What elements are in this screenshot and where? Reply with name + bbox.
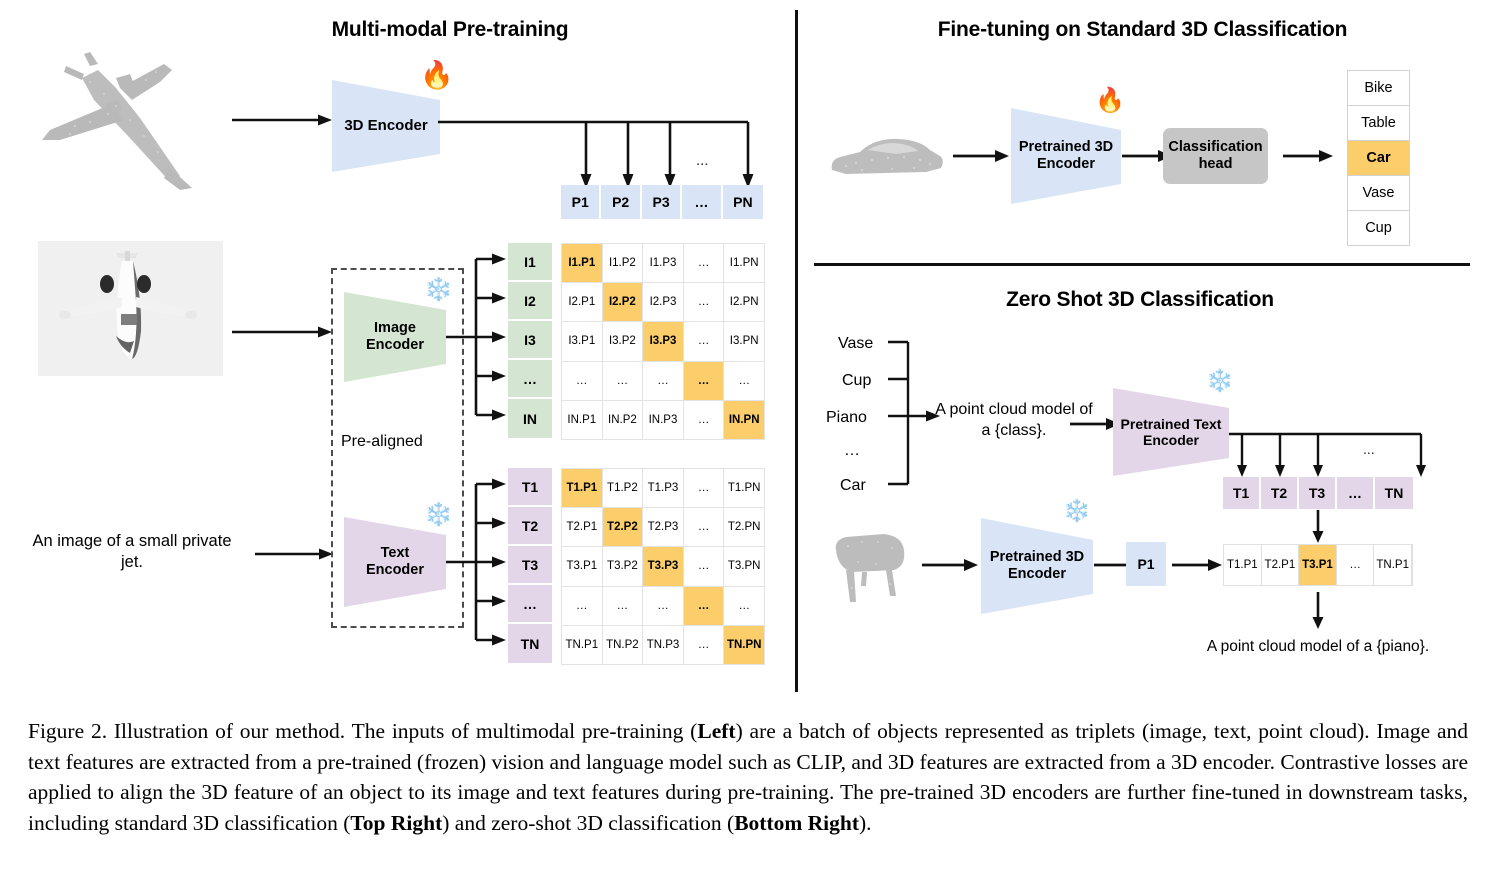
point-token: PN	[723, 185, 763, 219]
zeroshot-class-name: Vase	[838, 335, 873, 353]
image-token: …	[508, 360, 552, 399]
caption-emphasis: Top Right	[350, 811, 442, 835]
arrow-tokens-to-scores	[1310, 510, 1326, 544]
image-similarity-cell: I1.P1	[562, 244, 602, 282]
classification-class-list[interactable]: BikeTableCarVaseCup	[1347, 70, 1410, 246]
text-similarity-cell: …	[684, 469, 724, 507]
classification-head-box: Classification head	[1163, 128, 1268, 184]
fire-emoji-finetune: 🔥	[1095, 89, 1125, 113]
zeroshot-point-token-box: P1	[1126, 542, 1166, 586]
arrow-car-to-encoder	[953, 148, 1009, 164]
arrow-head-to-classes	[1283, 148, 1333, 164]
image-point-similarity-matrix: I1.P1I1.P2I1.P3…I1.PNI2.P1I2.P2I2.P3…I2.…	[561, 243, 765, 440]
image-token: I1	[508, 243, 552, 282]
image-similarity-cell: …	[603, 362, 643, 400]
arrow-p1-to-scores	[1172, 557, 1222, 573]
image-similarity-cell: I1.P3	[643, 244, 683, 282]
text-similarity-cell: TN.P1	[562, 626, 602, 664]
zeroshot-class-name: Piano	[826, 409, 867, 427]
text-similarity-cell: T3.P1	[562, 547, 602, 585]
class-list-item[interactable]: Cup	[1348, 211, 1409, 245]
snowflake-emoji-text-encoder: ❄️	[424, 503, 453, 526]
text-similarity-cell: T1.P1	[562, 469, 602, 507]
image-similarity-cell: …	[562, 362, 602, 400]
zeroshot-bus-ellipsis: ...	[1363, 441, 1375, 457]
zeroshot-score-cell: TN.P1	[1374, 545, 1412, 585]
zeroshot-encoder-label-line2: Encoder	[990, 566, 1084, 583]
zeroshot-class-name: …	[844, 442, 860, 460]
text-encoder-trapezoid: Text Encoder	[344, 517, 446, 607]
image-similarity-cell: …	[643, 362, 683, 400]
text-similarity-cell: …	[684, 626, 724, 664]
zeroshot-result-text: A point cloud model of a {piano}.	[1168, 637, 1468, 657]
image-similarity-cell: IN.P2	[603, 401, 643, 439]
point-cloud-airplane-icon	[20, 48, 235, 198]
text-similarity-cell: T1.PN	[724, 469, 764, 507]
image-similarity-cell: IN.P3	[643, 401, 683, 439]
text-similarity-cell: …	[643, 587, 683, 625]
fire-emoji-pretraining: 🔥	[420, 62, 454, 89]
figure-caption: Figure 2. Illustration of our method. Th…	[28, 716, 1468, 838]
text-token-fanout	[446, 475, 508, 655]
image-similarity-cell: I3.P2	[603, 322, 643, 360]
text-similarity-cell: TN.P3	[643, 626, 683, 664]
point-token-strip: P1 P2 P3 … PN	[561, 185, 763, 219]
snowflake-emoji-text-encoder-zs: ❄️	[1206, 370, 1233, 392]
encoder-3d-trapezoid: 3D Encoder	[332, 80, 440, 172]
text-encoder-zs-label-line2: Encoder	[1121, 432, 1222, 448]
zeroshot-class-name-list: Vase Cup Piano … Car	[826, 330, 894, 480]
zeroshot-text-token: T1	[1223, 477, 1261, 509]
point-token: …	[682, 185, 722, 219]
class-list-item[interactable]: Car	[1348, 141, 1409, 176]
bottom-right-panel-title: Zero Shot 3D Classification	[900, 288, 1380, 312]
image-similarity-cell: …	[684, 362, 724, 400]
image-similarity-cell: IN.PN	[724, 401, 764, 439]
point-cloud-car-icon	[826, 130, 946, 190]
image-similarity-cell: I1.PN	[724, 244, 764, 282]
text-encoder-label-line2: Encoder	[366, 562, 424, 579]
image-token-column: I1 I2 I3 … IN	[508, 243, 552, 438]
image-token: IN	[508, 399, 552, 438]
point-token: P3	[642, 185, 682, 219]
snowflake-emoji-image-encoder: ❄️	[424, 278, 453, 301]
zeroshot-score-row: T1.P1T2.P1T3.P1…TN.P1	[1223, 544, 1413, 586]
zeroshot-encoder-label-line1: Pretrained 3D	[990, 549, 1084, 566]
text-similarity-cell: T1.P2	[603, 469, 643, 507]
image-similarity-cell: …	[684, 401, 724, 439]
image-similarity-cell: I2.P1	[562, 283, 602, 321]
text-input-caption: An image of a small private jet.	[22, 531, 242, 574]
pretrained-text-encoder-trapezoid: Pretrained Text Encoder	[1113, 388, 1229, 476]
text-token: T2	[508, 507, 552, 546]
text-similarity-cell: T2.P1	[562, 508, 602, 546]
class-list-item[interactable]: Table	[1348, 106, 1409, 141]
caption-emphasis: Left	[697, 719, 735, 743]
finetune-encoder-label-line2: Encoder	[1019, 156, 1113, 173]
classification-head-label-line2: head	[1168, 156, 1262, 173]
pretrained-3d-encoder-zeroshot-trapezoid: Pretrained 3D Encoder	[981, 518, 1093, 614]
zeroshot-text-token: TN	[1375, 477, 1413, 509]
point-cloud-piano-icon	[828, 520, 918, 610]
caption-text: ).	[859, 811, 872, 835]
zeroshot-text-token: …	[1337, 477, 1375, 509]
text-similarity-cell: TN.PN	[724, 626, 764, 664]
caption-emphasis: Bottom Right	[734, 811, 859, 835]
arrow-piano-to-encoder	[922, 557, 978, 573]
image-similarity-cell: I3.P3	[643, 322, 683, 360]
pointcloud-bus-ellipsis: ...	[696, 152, 709, 169]
classification-head-label-line1: Classification	[1168, 139, 1262, 156]
zeroshot-point-token-label: P1	[1137, 556, 1154, 572]
image-encoder-label-line2: Encoder	[366, 337, 424, 354]
image-similarity-cell: …	[724, 362, 764, 400]
left-panel-title: Multi-modal Pre-training	[230, 18, 670, 42]
image-similarity-cell: I1.P2	[603, 244, 643, 282]
image-token: I3	[508, 321, 552, 360]
text-token-column: T1 T2 T3 … TN	[508, 468, 552, 663]
text-encoder-label-line1: Text	[366, 545, 424, 562]
image-similarity-cell: IN.P1	[562, 401, 602, 439]
image-similarity-cell: I3.PN	[724, 322, 764, 360]
zeroshot-text-token-bus	[1229, 430, 1429, 480]
text-similarity-cell: T3.PN	[724, 547, 764, 585]
point-token: P2	[601, 185, 641, 219]
image-encoder-trapezoid: Image Encoder	[344, 292, 446, 382]
class-list-item[interactable]: Bike	[1348, 71, 1409, 106]
zeroshot-text-token: T3	[1299, 477, 1337, 509]
zeroshot-score-cell: T1.P1	[1224, 545, 1262, 585]
pretrained-3d-encoder-finetune-trapezoid: Pretrained 3D Encoder	[1011, 108, 1121, 204]
image-similarity-cell: …	[684, 244, 724, 282]
text-similarity-cell: …	[684, 508, 724, 546]
text-similarity-cell: T2.PN	[724, 508, 764, 546]
image-similarity-cell: I2.PN	[724, 283, 764, 321]
image-similarity-cell: …	[684, 322, 724, 360]
zeroshot-score-cell: T2.P1	[1262, 545, 1300, 585]
arrow-scores-to-result	[1310, 592, 1326, 630]
pointcloud-token-bus	[438, 118, 763, 190]
text-similarity-cell: T2.P3	[643, 508, 683, 546]
text-similarity-cell: T2.P2	[603, 508, 643, 546]
text-token: …	[508, 585, 552, 624]
airplane-image-thumbnail	[38, 241, 223, 376]
caption-text: Figure 2. Illustration of our method. Th…	[28, 719, 697, 743]
text-token: T3	[508, 546, 552, 585]
text-similarity-cell: T1.P3	[643, 469, 683, 507]
finetune-encoder-label-line1: Pretrained 3D	[1019, 139, 1113, 156]
image-similarity-cell: I2.P2	[603, 283, 643, 321]
image-similarity-cell: I3.P1	[562, 322, 602, 360]
image-similarity-cell: …	[684, 283, 724, 321]
zeroshot-score-cell: …	[1337, 545, 1375, 585]
top-right-panel-title: Fine-tuning on Standard 3D Classificatio…	[845, 18, 1440, 42]
text-similarity-cell: …	[684, 587, 724, 625]
text-similarity-cell: T3.P2	[603, 547, 643, 585]
image-token-fanout	[446, 250, 508, 430]
zeroshot-text-token-strip: T1 T2 T3 … TN	[1223, 477, 1413, 509]
text-similarity-cell: TN.P2	[603, 626, 643, 664]
text-similarity-cell: T3.P3	[643, 547, 683, 585]
zeroshot-score-cell: T3.P1	[1299, 545, 1337, 585]
text-token: TN	[508, 624, 552, 663]
encoder-3d-label: 3D Encoder	[344, 117, 427, 134]
text-similarity-cell: …	[603, 587, 643, 625]
text-encoder-zs-label-line1: Pretrained Text	[1121, 416, 1222, 432]
arrow-text-to-encoder	[255, 546, 333, 562]
image-token: I2	[508, 282, 552, 321]
image-similarity-cell: I2.P3	[643, 283, 683, 321]
caption-text: ) and zero-shot 3D classification (	[442, 811, 734, 835]
vertical-divider	[795, 10, 798, 692]
text-similarity-cell: …	[684, 547, 724, 585]
text-token: T1	[508, 468, 552, 507]
text-similarity-cell: …	[724, 587, 764, 625]
arrow-pointcloud-to-encoder	[232, 112, 332, 128]
arrow-image-to-encoder	[232, 324, 332, 340]
text-point-similarity-matrix: T1.P1T1.P2T1.P3…T1.PNT2.P1T2.P2T2.P3…T2.…	[561, 468, 765, 665]
class-list-item[interactable]: Vase	[1348, 176, 1409, 211]
pre-aligned-label: Pre-aligned	[341, 433, 423, 451]
zeroshot-class-name: Car	[840, 477, 866, 495]
point-token: P1	[561, 185, 601, 219]
zeroshot-class-name: Cup	[842, 372, 871, 390]
image-encoder-label-line1: Image	[366, 320, 424, 337]
horizontal-divider	[814, 263, 1470, 266]
snowflake-emoji-3d-encoder-zs: ❄️	[1063, 500, 1090, 522]
figure-illustration: Multi-modal Pre-training	[0, 0, 1490, 700]
zeroshot-text-token: T2	[1261, 477, 1299, 509]
text-similarity-cell: …	[562, 587, 602, 625]
